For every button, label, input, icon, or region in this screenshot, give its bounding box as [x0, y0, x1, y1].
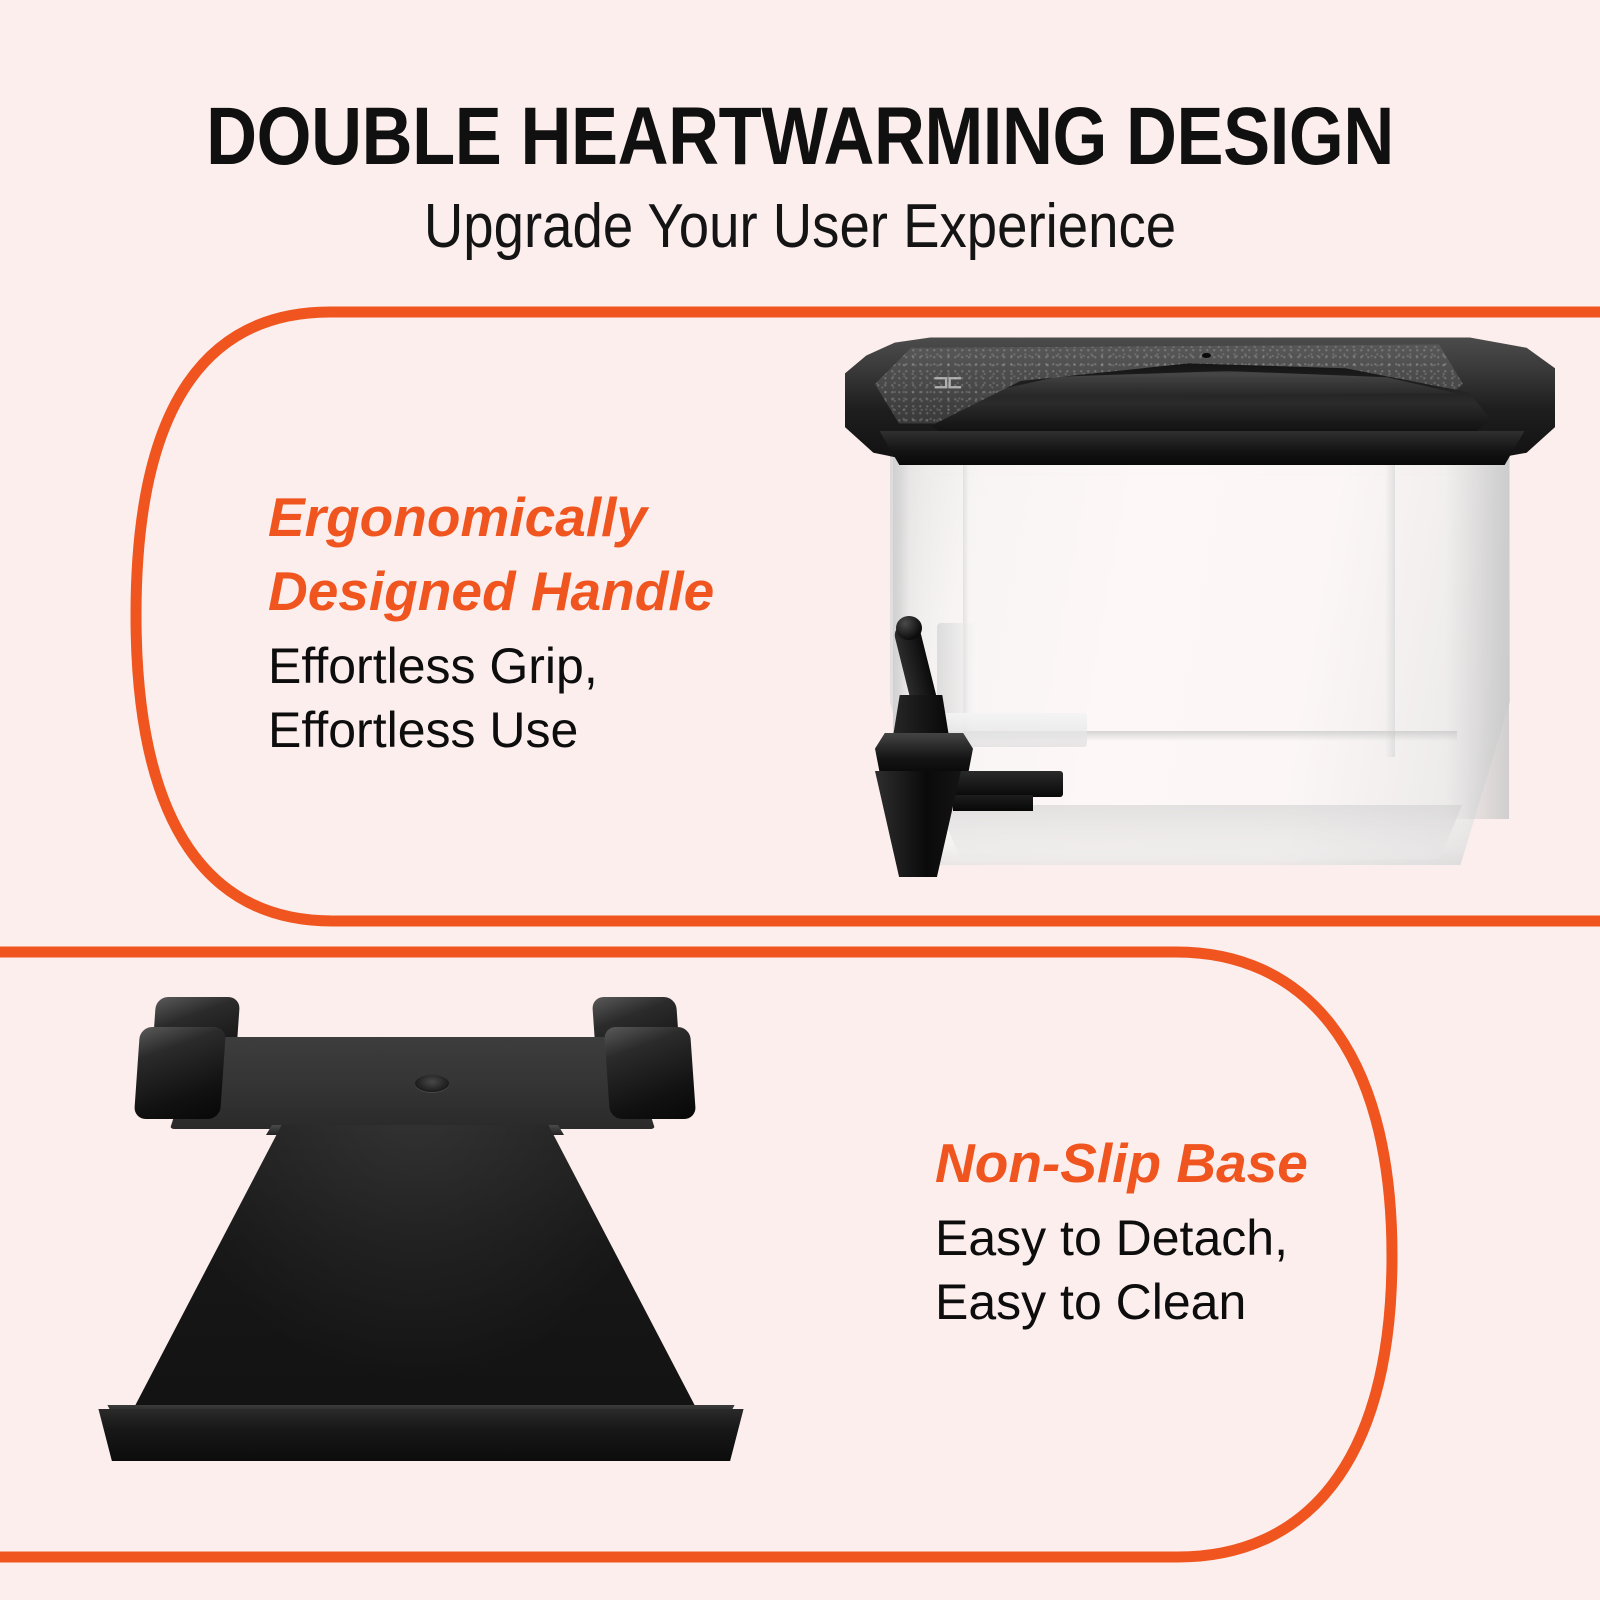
base-bottom-rim — [85, 1409, 757, 1461]
feature-block-base: Non-Slip Base Easy to Detach, Easy to Cl… — [935, 1132, 1308, 1334]
infographic-canvas: DOUBLE HEARTWARMING DESIGN Upgrade Your … — [0, 0, 1600, 1600]
spigot-lever-knob — [896, 616, 922, 640]
tank-right-edge-highlight — [1445, 439, 1509, 819]
lid-vent-pin — [1202, 353, 1211, 358]
spigot-mount-arm — [953, 771, 1063, 797]
base-corner-peg-front-left — [134, 1027, 226, 1119]
spigot-mount-arm-lower — [953, 795, 1033, 811]
base-center-screw-icon — [415, 1075, 449, 1092]
product-image-beverage-dispenser: ⊐⊏ — [845, 335, 1555, 880]
base-front-sheen — [125, 1125, 705, 1425]
feature-body-line2: Effortless Use — [268, 698, 714, 762]
lid-rim — [873, 431, 1531, 465]
base-top-surface — [170, 1037, 655, 1129]
feature-headline-line2: Designed Handle — [268, 560, 714, 624]
feature-body-line1: Effortless Grip, — [268, 634, 714, 698]
product-image-non-slip-base — [75, 975, 765, 1505]
feature-body-base-line1: Easy to Detach, — [935, 1206, 1308, 1270]
page-title: DOUBLE HEARTWARMING DESIGN — [112, 96, 1488, 178]
base-corner-peg-front-right — [604, 1027, 696, 1119]
tank-inner-rib-right — [1385, 447, 1395, 757]
page-subtitle: Upgrade Your User Experience — [96, 196, 1504, 258]
feature-headline-base: Non-Slip Base — [935, 1132, 1308, 1196]
feature-body-base-line2: Easy to Clean — [935, 1270, 1308, 1334]
feature-block-handle: Ergonomically Designed Handle Effortless… — [268, 486, 714, 762]
feature-headline-line1: Ergonomically — [268, 486, 714, 550]
tank-foot-band — [915, 805, 1485, 859]
brand-emblem-icon: ⊐⊏ — [933, 371, 963, 395]
